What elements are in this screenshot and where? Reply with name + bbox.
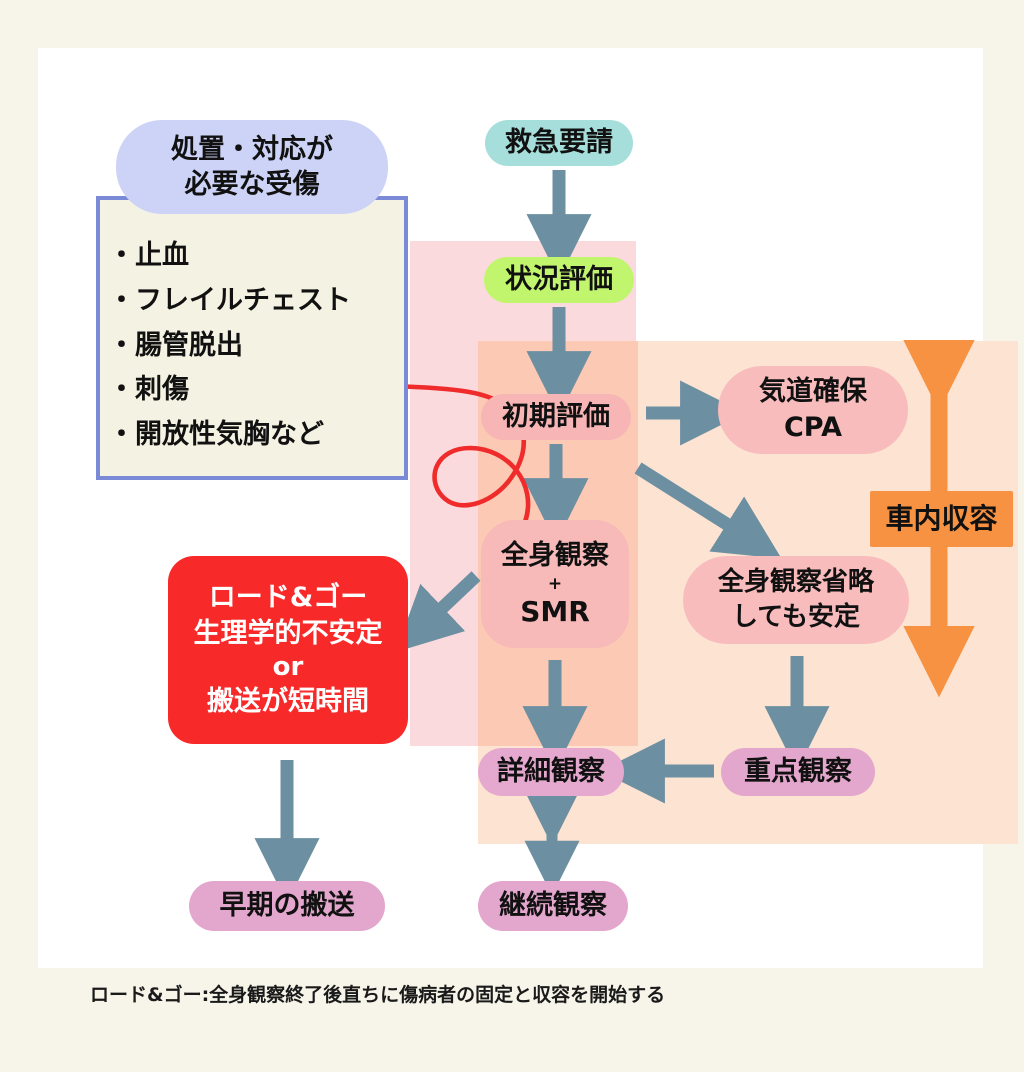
list-item: ・開放性気胸など [108, 413, 408, 458]
node-label-line2: CPA [784, 413, 842, 443]
node-label: 重点観察 [744, 757, 852, 787]
node-label: 初期評価 [502, 402, 610, 432]
node-detailed-observation[interactable]: 詳細観察 [478, 748, 624, 796]
node-label-line1: 全身観察省略 [718, 568, 874, 597]
node-label: 詳細観察 [497, 757, 605, 787]
list-item: ・刺傷 [108, 368, 408, 413]
treatment-list-items: ・止血 ・フレイルチェスト ・腸管脱出 ・刺傷 ・開放性気胸など [108, 234, 408, 458]
list-item: ・止血 [108, 234, 408, 279]
node-label-line2: しても安定 [732, 603, 860, 632]
node-load-and-go[interactable]: ロード&ゴー 生理学的不安定 or 搬送が短時間 [168, 556, 408, 744]
node-label-line4: 搬送が短時間 [207, 684, 369, 719]
node-situation-assessment[interactable]: 状況評価 [484, 257, 634, 303]
node-initial-assessment[interactable]: 初期評価 [481, 394, 631, 440]
node-early-transport[interactable]: 早期の搬送 [189, 881, 385, 931]
node-airway-management-cpa[interactable]: 気道確保 CPA [718, 366, 908, 454]
treatment-list-title: 処置・対応が 必要な受傷 [116, 120, 388, 214]
node-in-vehicle-loading[interactable]: 車内収容 [870, 491, 1013, 547]
node-label: 救急要請 [505, 128, 613, 158]
diagram-canvas: 処置・対応が 必要な受傷 ・止血 ・フレイルチェスト ・腸管脱出 ・刺傷 ・開放… [0, 0, 1024, 1024]
node-continuous-observation[interactable]: 継続観察 [478, 881, 628, 931]
node-skip-whole-body-stable[interactable]: 全身観察省略 しても安定 [683, 556, 909, 644]
node-label-line1: 全身観察 [501, 541, 609, 571]
node-label-line2: SMR [520, 596, 590, 627]
node-label-line1: 気道確保 [759, 377, 867, 407]
node-focused-observation[interactable]: 重点観察 [721, 748, 875, 796]
treatment-list-title-line1: 処置・対応が [171, 132, 333, 167]
node-emergency-call[interactable]: 救急要請 [485, 120, 633, 166]
node-label: 継続観察 [499, 891, 607, 921]
node-whole-body-survey-smr[interactable]: 全身観察 + SMR [481, 520, 629, 648]
diagram-card: 処置・対応が 必要な受傷 ・止血 ・フレイルチェスト ・腸管脱出 ・刺傷 ・開放… [38, 48, 983, 968]
node-label: 早期の搬送 [220, 891, 355, 921]
footnote-text: ロード&ゴー:全身観察終了後直ちに傷病者の固定と収容を開始する [90, 980, 665, 1007]
node-label-plus: + [548, 575, 562, 594]
node-label-line1: ロード&ゴー [209, 580, 368, 615]
node-label: 車内収容 [885, 503, 997, 534]
node-label-line3: or [273, 651, 304, 685]
node-label: 状況評価 [505, 265, 613, 295]
treatment-list-title-line2: 必要な受傷 [185, 167, 320, 202]
list-item: ・腸管脱出 [108, 324, 408, 369]
node-label-line2: 生理学的不安定 [194, 616, 383, 651]
list-item: ・フレイルチェスト [108, 279, 408, 324]
